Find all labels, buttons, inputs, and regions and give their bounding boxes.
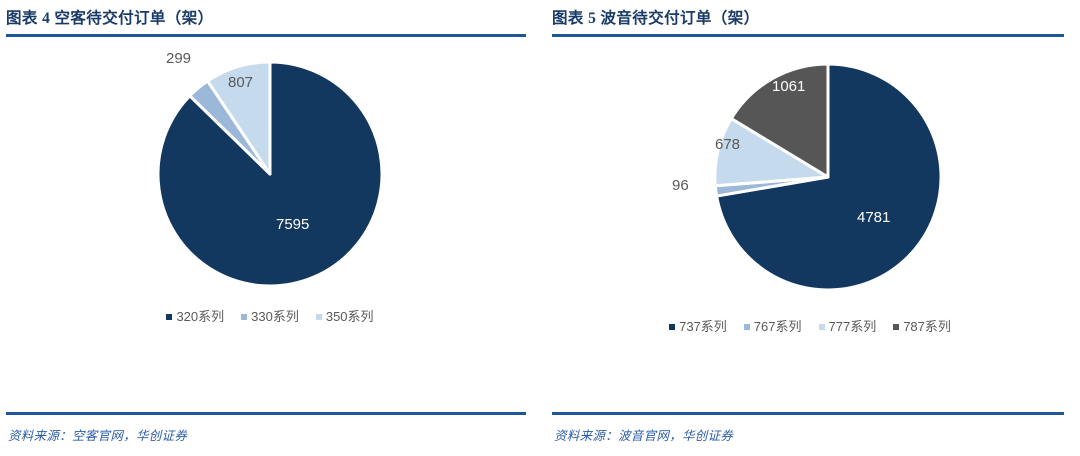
title-divider bbox=[552, 34, 1064, 37]
data-label-737: 4781 bbox=[857, 210, 890, 225]
data-label-767: 96 bbox=[672, 178, 689, 193]
legend-airbus: 320系列 330系列 350系列 bbox=[0, 310, 540, 323]
legend-swatch-737-icon bbox=[669, 324, 675, 330]
pie-svg-boeing bbox=[590, 42, 1030, 317]
chart-area-boeing: 1061 678 96 4781 737系列 767系列 777系列 bbox=[540, 42, 1080, 410]
legend-label-350: 350系列 bbox=[326, 310, 374, 323]
source-note: 资料来源：空客官网，华创证券 bbox=[8, 425, 187, 444]
source-note: 资料来源：波音官网，华创证券 bbox=[554, 425, 733, 444]
legend-boeing: 737系列 767系列 777系列 787系列 bbox=[540, 320, 1080, 333]
legend-item-350[interactable]: 350系列 bbox=[316, 310, 374, 323]
data-label-330: 299 bbox=[166, 51, 191, 66]
legend-item-767[interactable]: 767系列 bbox=[744, 320, 802, 333]
data-label-777: 678 bbox=[715, 137, 740, 152]
figure-panel-airbus: 图表 4 空客待交付订单（架） 299 807 bbox=[0, 0, 540, 456]
legend-swatch-777-icon bbox=[819, 324, 825, 330]
figure-pair-page: 图表 4 空客待交付订单（架） 299 807 bbox=[0, 0, 1080, 456]
legend-label-737: 737系列 bbox=[679, 320, 727, 333]
chart-area-airbus: 299 807 7595 320系列 330系列 350系列 bbox=[0, 42, 540, 410]
legend-swatch-320-icon bbox=[166, 314, 172, 320]
legend-label-330: 330系列 bbox=[251, 310, 299, 323]
legend-item-320[interactable]: 320系列 bbox=[166, 310, 224, 323]
data-label-320: 7595 bbox=[276, 217, 309, 232]
legend-item-737[interactable]: 737系列 bbox=[669, 320, 727, 333]
legend-label-767: 767系列 bbox=[754, 320, 802, 333]
page-title: 图表 5 波音待交付订单（架） bbox=[552, 6, 760, 28]
legend-item-777[interactable]: 777系列 bbox=[819, 320, 877, 333]
legend-item-787[interactable]: 787系列 bbox=[893, 320, 951, 333]
source-divider bbox=[552, 412, 1064, 415]
pie-svg-airbus bbox=[60, 42, 480, 307]
legend-label-777: 777系列 bbox=[829, 320, 877, 333]
pie-chart-boeing bbox=[540, 42, 1080, 317]
legend-item-330[interactable]: 330系列 bbox=[241, 310, 299, 323]
legend-label-320: 320系列 bbox=[176, 310, 224, 323]
legend-swatch-767-icon bbox=[744, 324, 750, 330]
legend-swatch-330-icon bbox=[241, 314, 247, 320]
data-label-350: 807 bbox=[228, 75, 253, 90]
page-title: 图表 4 空客待交付订单（架） bbox=[6, 6, 214, 28]
figure-panel-boeing: 图表 5 波音待交付订单（架） bbox=[540, 0, 1080, 456]
title-divider bbox=[6, 34, 526, 37]
legend-swatch-350-icon bbox=[316, 314, 322, 320]
legend-label-787: 787系列 bbox=[903, 320, 951, 333]
source-divider bbox=[6, 412, 526, 415]
legend-swatch-787-icon bbox=[893, 324, 899, 330]
data-label-787: 1061 bbox=[772, 79, 805, 94]
pie-chart-airbus bbox=[0, 42, 540, 307]
